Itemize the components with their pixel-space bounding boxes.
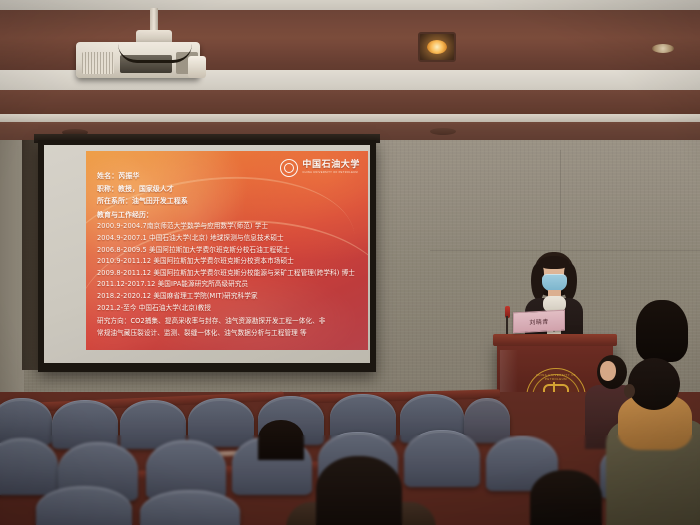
auditorium-seat bbox=[404, 430, 480, 487]
ceiling-soffit-brown-2 bbox=[0, 90, 700, 116]
slide-line-department: 所在系所：油气田开发工程系 bbox=[97, 196, 360, 208]
audience-member-head bbox=[258, 420, 304, 460]
slide-line-work-1: 2011.12-2017.12 美国IPA能源研究所高级研究员 bbox=[97, 279, 360, 291]
auditorium-seat bbox=[36, 486, 132, 525]
slide-line-work-2: 2018.2-2020.12 美国麻省理工学院(MIT)研究科学家 bbox=[97, 291, 360, 303]
slide-line-edu-3: 2006.8-2009.5 美国阿拉斯加大学费尔班克斯分校石油工程硕士 bbox=[97, 245, 360, 257]
audience-ear bbox=[624, 384, 635, 398]
ceiling-vent-2 bbox=[430, 128, 456, 135]
audience-member-hooded bbox=[606, 358, 700, 525]
logo-name-cn: 中国石油大学 bbox=[302, 161, 360, 170]
slide-line-section-education: 教育与工作经历： bbox=[97, 210, 360, 222]
projector-vent-grill-icon bbox=[82, 52, 114, 74]
auditorium-seat bbox=[188, 398, 254, 447]
name-card-text: 刘晓青 bbox=[529, 316, 548, 326]
auditorium-seat bbox=[140, 490, 240, 525]
audience-member-foreground bbox=[530, 470, 602, 525]
projector-lens-icon bbox=[188, 56, 206, 78]
podium-top-surface bbox=[493, 334, 617, 346]
face-mask-icon bbox=[542, 274, 567, 291]
slide-line-edu-2: 2004.9-2007.1 中国石油大学(北京) 地球探测与信息技术硕士 bbox=[97, 233, 360, 245]
lecture-hall-photo: 中国石油大学 CHINA UNIVERSITY OF PETROLEUM 姓名：… bbox=[0, 0, 700, 525]
slide-line-edu-5: 2009.8-2011.12 美国阿拉斯加大学费尔班克斯分校能源与采矿工程管理(… bbox=[97, 268, 360, 280]
wall-seam bbox=[430, 250, 700, 251]
auditorium-seat bbox=[464, 398, 510, 443]
slide-line-work-3: 2021.2-至今 中国石油大学(北京)教授 bbox=[97, 303, 360, 315]
slide-line-edu-1: 2000.9-2004.7南京师范大学数学与应用数学(师范) 学士 bbox=[97, 221, 360, 233]
audience-member-head bbox=[636, 300, 688, 362]
auditorium-seat bbox=[52, 400, 118, 449]
wall-left-panel bbox=[0, 140, 24, 400]
slide-line-name: 姓名：芮振华 bbox=[97, 171, 360, 183]
audience-head bbox=[628, 358, 680, 410]
speaker-name-card: 刘晓青 bbox=[513, 310, 565, 334]
emblem-text-en: CHINA UNIVERSITY OF PETROLEUM bbox=[527, 373, 585, 381]
projected-slide: 中国石油大学 CHINA UNIVERSITY OF PETROLEUM 姓名：… bbox=[86, 151, 368, 350]
slide-line-research-2: 常规油气藏压裂设计、监测、裂缝一体化、油气数据分析与工程管理 等 bbox=[97, 328, 360, 340]
light-bulb-icon bbox=[427, 40, 447, 54]
audience-member-foreground bbox=[316, 456, 402, 525]
slide-text-body: 姓名：芮振华 职称：教授，国家级人才 所在系所：油气田开发工程系 教育与工作经历… bbox=[97, 171, 360, 339]
projector-cable bbox=[118, 44, 192, 63]
auditorium-seat bbox=[0, 438, 58, 495]
microphone-stem bbox=[506, 316, 508, 334]
slide-line-research-1: 研究方向：CO2捕集、提高采收率与封存、油气资源勘探开发工程一体化、非 bbox=[97, 316, 360, 328]
slide-line-edu-4: 2010.9-2011.12 美国阿拉斯加大学费尔班克斯分校资本市场硕士 bbox=[97, 256, 360, 268]
recessed-downlight bbox=[418, 32, 456, 62]
slide-line-title: 职称：教授，国家级人才 bbox=[97, 184, 360, 196]
recessed-downlight-small bbox=[652, 44, 674, 53]
